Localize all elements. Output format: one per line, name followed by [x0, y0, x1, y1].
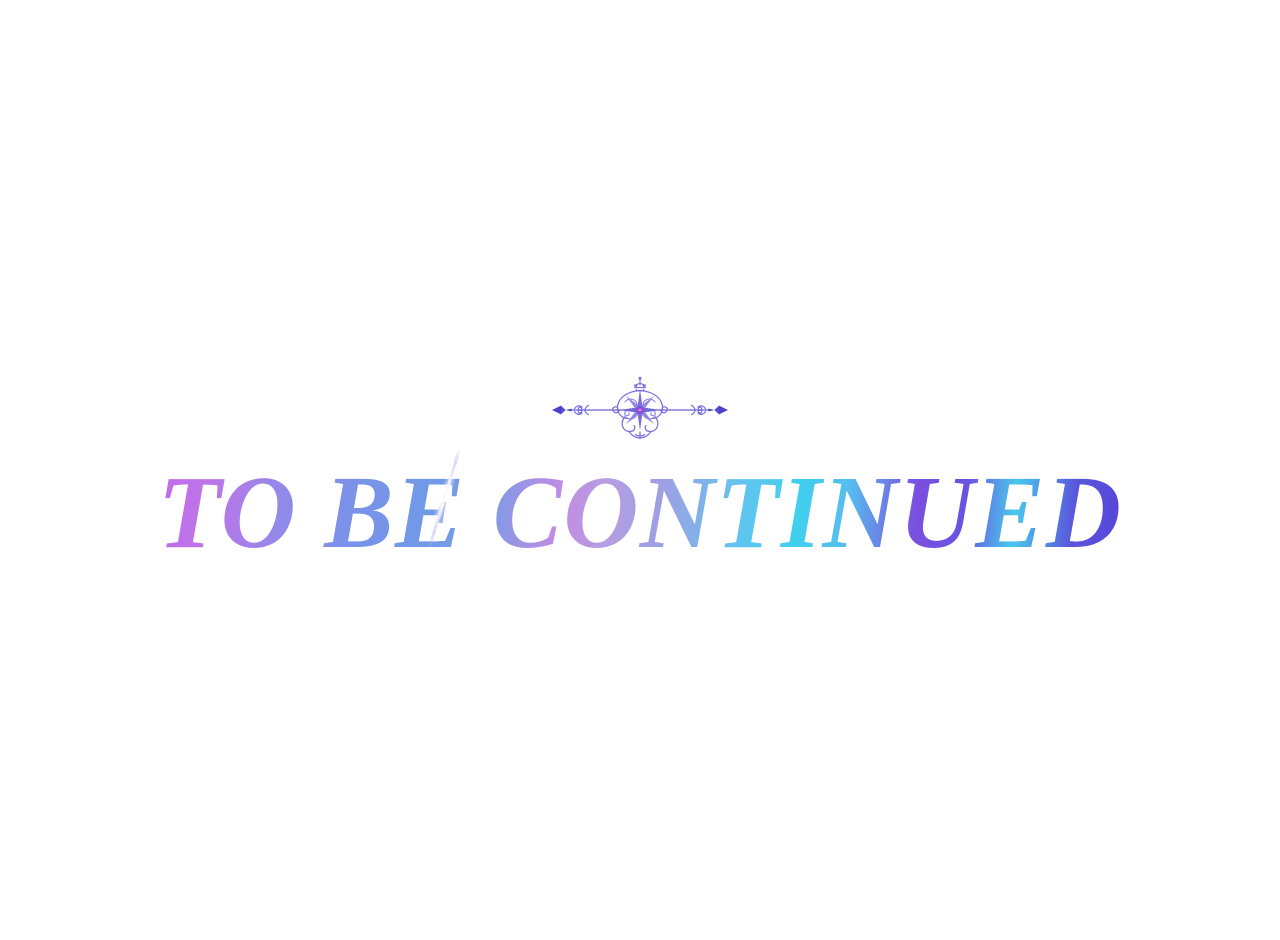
- end-card-screen: TO BE CONTINUED: [0, 0, 1280, 940]
- divider-medallion-icon: [613, 377, 668, 439]
- headline-wrap: TO BE CONTINUED: [152, 460, 1128, 566]
- divider-right-finial-icon: [709, 406, 729, 415]
- ornamental-divider: [550, 374, 730, 446]
- end-card-content: TO BE CONTINUED: [0, 0, 1280, 940]
- to-be-continued-text: TO BE CONTINUED: [152, 460, 1128, 566]
- divider-left-finial-icon: [552, 406, 572, 415]
- ornamental-divider-icon: [550, 374, 730, 446]
